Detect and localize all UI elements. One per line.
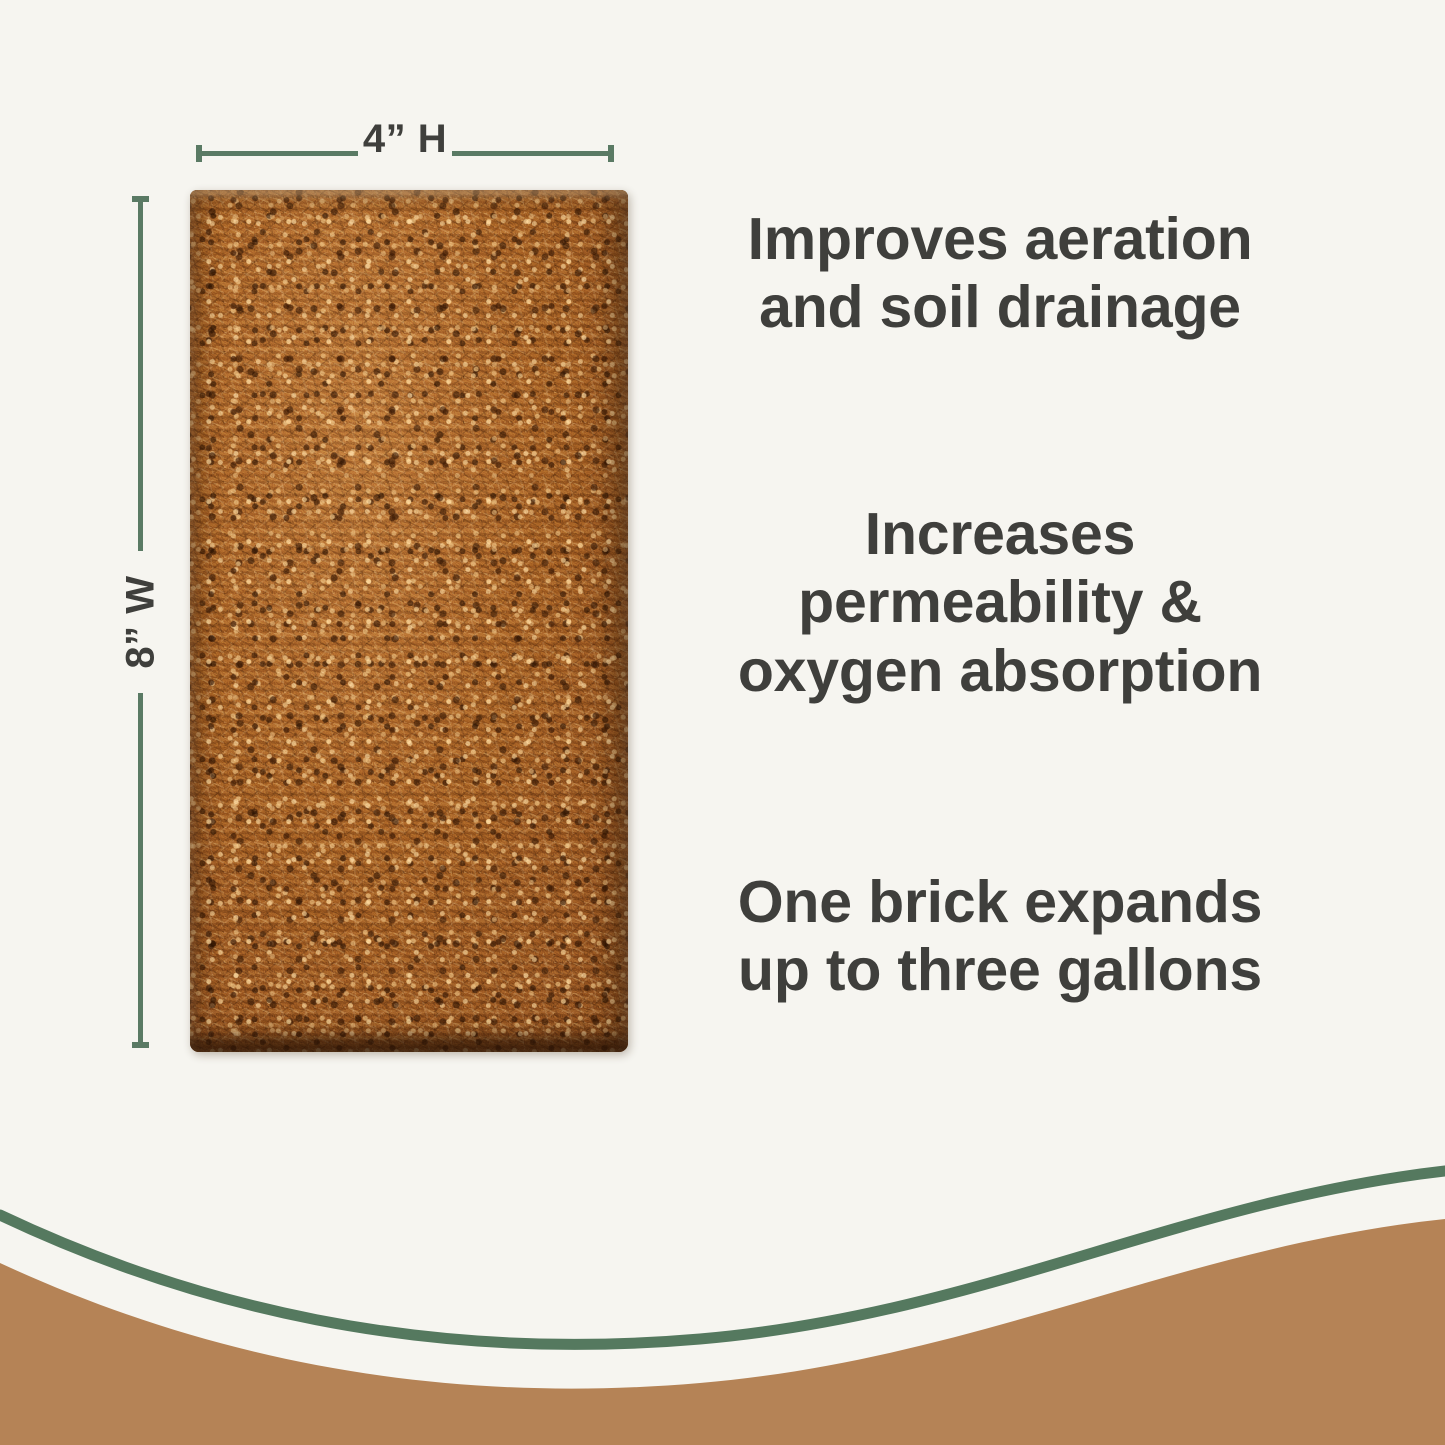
benefit-permeability-line-3: oxygen absorption: [660, 637, 1340, 705]
coir-brick-image: [190, 190, 628, 1052]
dimension-bar-bottom: [138, 693, 143, 1048]
benefit-expansion-line-1: One brick expands: [660, 868, 1340, 936]
dimension-label-width: 8” W: [118, 575, 163, 668]
dimension-vertical: 8” W: [132, 196, 149, 1048]
benefit-permeability: Increases permeability & oxygen absorpti…: [660, 500, 1340, 705]
benefit-permeability-line-1: Increases: [660, 500, 1340, 568]
benefit-expansion: One brick expands up to three gallons: [660, 868, 1340, 1005]
coir-rim-highlight: [190, 190, 628, 1052]
dimension-bar-right: [452, 151, 614, 156]
dimension-horizontal: 4” H: [196, 145, 614, 161]
infographic-canvas: 4” H 8” W Improves aeration and soil dra…: [0, 0, 1445, 1445]
dimension-cap-right: [608, 145, 614, 162]
benefits-column: Improves aeration and soil drainage Incr…: [660, 0, 1340, 1070]
benefit-aeration-line-2: and soil drainage: [660, 273, 1340, 341]
benefit-expansion-line-2: up to three gallons: [660, 936, 1340, 1004]
benefit-aeration: Improves aeration and soil drainage: [660, 205, 1340, 342]
dimension-bar-top: [138, 196, 143, 551]
benefit-permeability-line-2: permeability &: [660, 568, 1340, 636]
dimension-cap-bottom: [132, 1042, 149, 1048]
bottom-wave-decoration: [0, 1115, 1445, 1445]
benefit-aeration-line-1: Improves aeration: [660, 205, 1340, 273]
